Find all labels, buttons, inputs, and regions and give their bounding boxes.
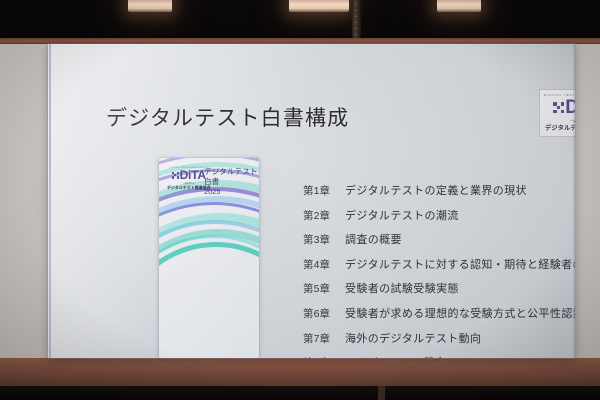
chapter-number: 第6章: [303, 306, 345, 321]
dita-org-name: デジタルテスト推進協会: [545, 123, 575, 132]
chapter-row: 第7章海外のデジタルテスト動向: [303, 330, 575, 346]
chapter-number: 第8章: [303, 355, 345, 358]
chapter-title: デジタルテストに対する認知・期待と経験者の評価: [345, 256, 575, 272]
chapter-title: AI による CBT 革命: [345, 354, 446, 358]
chapter-title: デジタルテストの定義と業界の現状: [345, 182, 527, 198]
cover-arc-graphic: [159, 278, 259, 358]
chapter-row: 第6章受験者が求める理想的な受験方式と公平性認識: [303, 305, 575, 321]
cover-title-line-2: 白書: [204, 177, 258, 187]
chapter-title: デジタルテストの潮流: [345, 207, 459, 223]
chapter-number: 第5章: [303, 281, 345, 296]
cover-title-block: デジタルテスト 白書 2025: [204, 167, 258, 197]
ceiling-light-3: [437, 0, 481, 12]
screen-edge-right: [573, 44, 575, 358]
chapter-number: 第7章: [303, 331, 345, 346]
dita-logo: DIGITAL TESTING ASSOCIATION DiTA 一般社団法人 …: [540, 90, 575, 136]
page-title: デジタルテスト白書構成: [106, 102, 349, 132]
chapter-title: 受験者の試験受験実態: [345, 280, 459, 296]
chapter-number: 第1章: [303, 183, 345, 198]
room-background: デジタルテスト白書構成 DIGITAL TESTING ASSOCIATION …: [0, 0, 600, 400]
chapter-list: 第1章デジタルテストの定義と業界の現状第2章デジタルテストの潮流第3章調査の概要…: [303, 182, 575, 358]
screen-edge-left: [49, 44, 51, 358]
dita-logo-mark: DiTA: [553, 98, 575, 117]
screen-frame-bottom: [0, 358, 600, 386]
chapter-row: 第4章デジタルテストに対する認知・期待と経験者の評価: [303, 256, 575, 272]
cover-year: 2025: [204, 187, 258, 196]
floor-shadow: [0, 386, 600, 400]
cover-logo-mark: DiTA: [172, 169, 206, 181]
presentation-slide: デジタルテスト白書構成 DIGITAL TESTING ASSOCIATION …: [48, 44, 575, 358]
chapter-row: 第2章デジタルテストの潮流: [303, 207, 575, 223]
ceiling-light-1: [128, 0, 172, 12]
chapter-title: 調査の概要: [345, 231, 402, 247]
ceiling-light-2: [289, 0, 349, 12]
dita-logo-kicker: DIGITAL TESTING ASSOCIATION: [543, 94, 575, 98]
chapter-number: 第2章: [303, 208, 345, 223]
cover-dita-wordmark: DiTA: [180, 169, 206, 181]
whitepaper-cover-thumbnail: DIGITAL TESTING ASSOCIATION DiTA 一般社団法人 …: [159, 158, 259, 358]
chapter-number: 第4章: [303, 257, 345, 272]
chapter-number: 第3章: [303, 232, 345, 247]
chapter-row: 第8章AI による CBT 革命: [303, 354, 575, 358]
chapter-row: 第3章調査の概要: [303, 231, 575, 247]
chapter-title: 海外のデジタルテスト動向: [345, 330, 481, 346]
chapter-row: 第1章デジタルテストの定義と業界の現状: [303, 182, 575, 198]
cover-title-line-1: デジタルテスト: [204, 167, 258, 177]
chapter-title: 受験者が求める理想的な受験方式と公平性認識: [345, 305, 575, 321]
pixel-square-icon: [172, 172, 179, 179]
pixel-square-icon: [553, 102, 564, 113]
chapter-row: 第5章受験者の試験受験実態: [303, 280, 575, 296]
